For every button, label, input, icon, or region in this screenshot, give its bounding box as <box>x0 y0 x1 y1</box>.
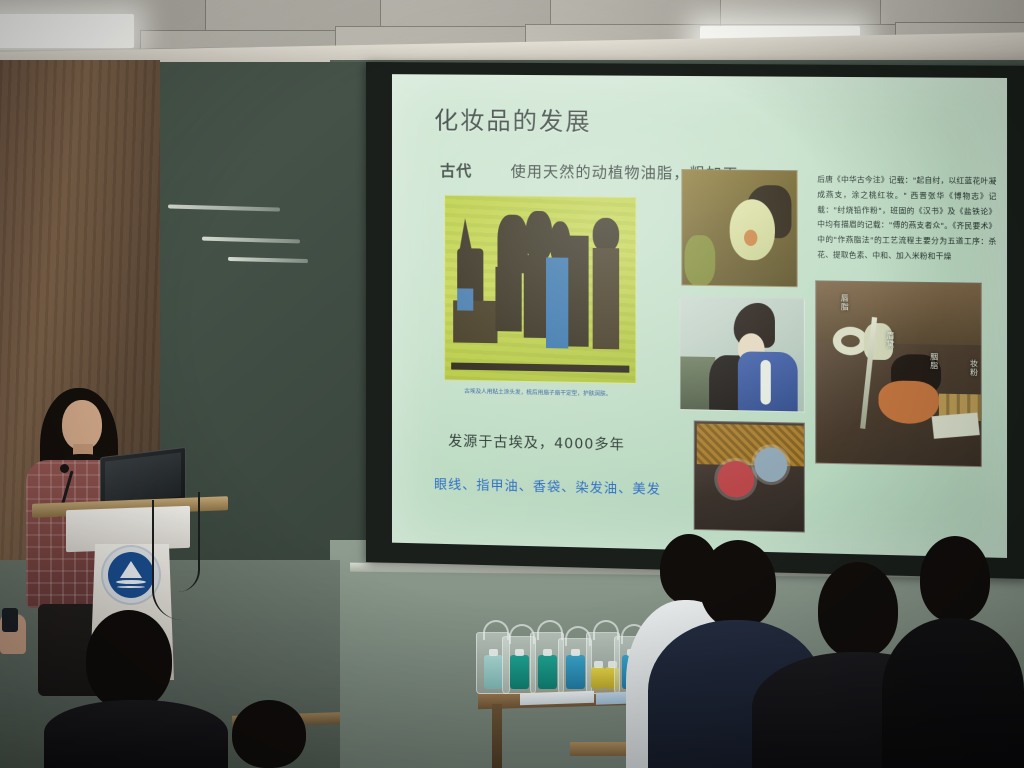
slide-origin-line: 发源于古埃及，4000多年 <box>448 431 625 455</box>
student-jacket <box>882 618 1024 768</box>
microphone-head <box>60 464 69 473</box>
slide-keywords-line: 眼线、指甲油、香袋、染发油、美发 <box>434 474 661 498</box>
vanity-label-powder: 妆粉 <box>968 359 980 377</box>
institution-emblem-icon <box>108 552 154 598</box>
ceiling-light-left <box>0 14 134 48</box>
paper-on-table <box>520 691 594 706</box>
table-leg-left <box>492 704 502 768</box>
student-head <box>700 540 776 628</box>
projection-screen: 化妆品的发展 古代 使用天然的动植物油脂，粗加工。 古埃及人用粘 <box>366 62 1024 579</box>
student-head <box>86 610 172 710</box>
slide-title: 化妆品的发展 <box>434 100 592 136</box>
vanity-label-brow: 眉黛 <box>885 331 896 349</box>
slide-section-label: 古代 <box>440 160 472 181</box>
rouge-and-powder-compacts <box>694 420 805 532</box>
dunhuang-mural-face <box>681 169 797 287</box>
cable-2 <box>178 492 200 592</box>
classroom-scene: 化妆品的发展 古代 使用天然的动植物油脂，粗加工。 古埃及人用粘 <box>0 0 1024 768</box>
slide-image-caption: 古埃及人用粘土涂头发，梳后用扇子扇干定型，护肤润肤。 <box>464 388 616 400</box>
vanity-label-rouge: 胭脂 <box>928 353 939 371</box>
student-head <box>232 700 306 768</box>
presenter-face <box>62 400 102 450</box>
student-jacket <box>44 700 228 768</box>
classical-lady-mirror-painting <box>679 297 804 413</box>
ancient-vanity-set: 唇脂 眉黛 胭脂 妆粉 <box>815 280 982 467</box>
egyptian-papyrus-painting <box>444 195 636 384</box>
student-head <box>818 562 898 658</box>
powerpoint-slide: 化妆品的发展 古代 使用天然的动植物油脂，粗加工。 古埃及人用粘 <box>392 74 1007 558</box>
vanity-label-lip: 唇脂 <box>839 294 850 311</box>
slide-body-text: 后唐《中华古今注》记载："起自纣，以红蓝花叶凝成燕支，涂之桃红妆。" 西晋张华《… <box>817 173 996 266</box>
smartphone <box>2 608 18 632</box>
student-head <box>920 536 990 622</box>
